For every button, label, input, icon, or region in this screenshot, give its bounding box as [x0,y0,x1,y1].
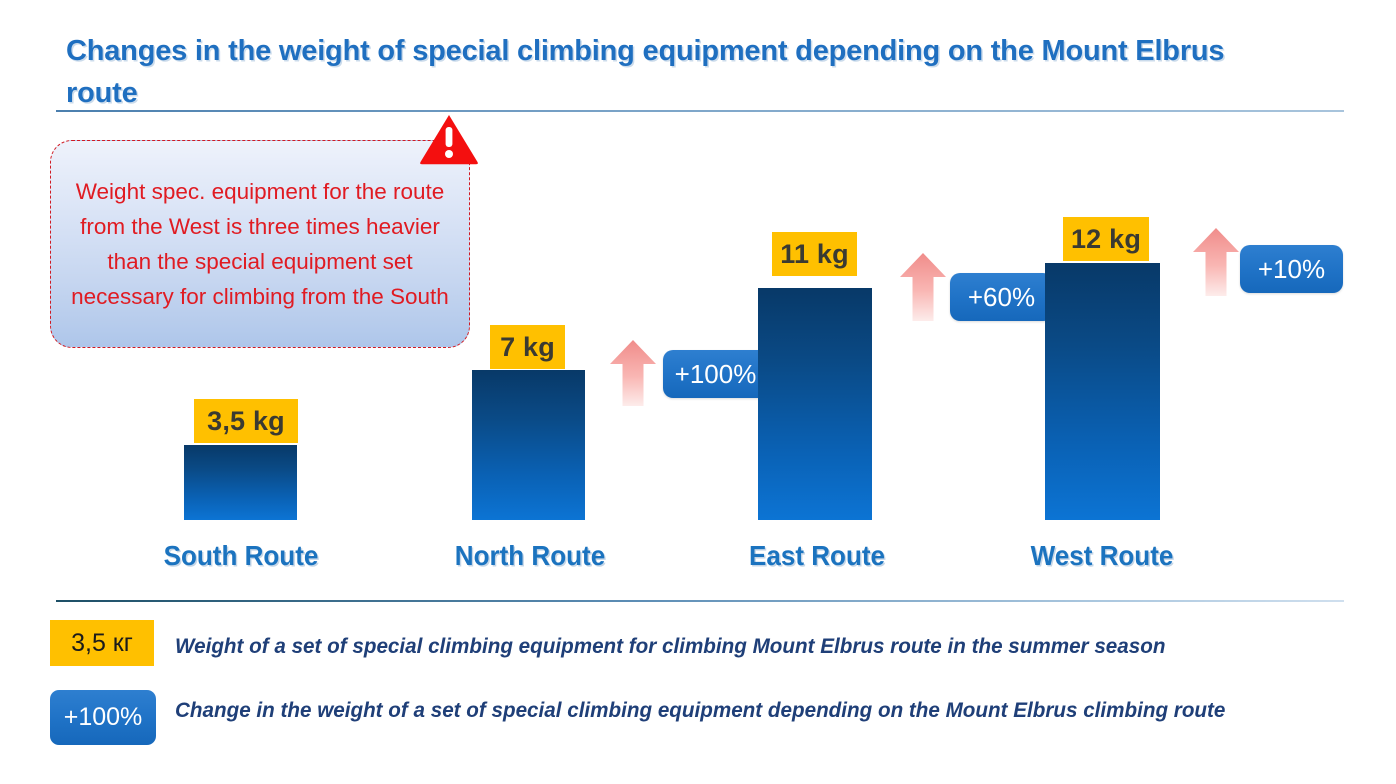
category-label-north-route: North Route [442,540,619,572]
legend-description-change: Change in the weight of a set of special… [175,695,1260,726]
increase-arrow-3 [1193,228,1239,296]
legend-swatch-weight: 3,5 кг [50,620,154,666]
increase-arrow-1 [610,340,656,406]
change-badge-100: +100% [663,350,768,398]
value-label-north-route: 7 kg [490,325,565,369]
value-label-south-route: 3,5 kg [194,399,298,443]
legend-divider [56,600,1344,602]
change-badge-10: +10% [1240,245,1343,293]
category-label-east-route: East Route [729,540,906,572]
value-label-west-route: 12 kg [1063,217,1149,261]
bar-south-route [184,445,297,520]
value-label-east-route: 11 kg [772,232,857,276]
legend-swatch-change: +100% [50,690,156,745]
increase-arrow-2 [900,253,946,321]
bar-north-route [472,370,585,520]
legend-item-weight: 3,5 кг Weight of a set of special climbi… [50,620,1305,666]
category-label-west-route: West Route [1014,540,1191,572]
bar-west-route [1045,263,1160,520]
category-label-south-route: South Route [153,540,330,572]
legend-item-change: +100% Change in the weight of a set of s… [50,690,1305,745]
legend-description-weight: Weight of a set of special climbing equi… [175,631,1260,662]
bar-chart: 3,5 kg South Route +100% 7 kg North Rout… [0,0,1396,784]
change-badge-60: +60% [950,273,1053,321]
bar-east-route [758,288,872,520]
